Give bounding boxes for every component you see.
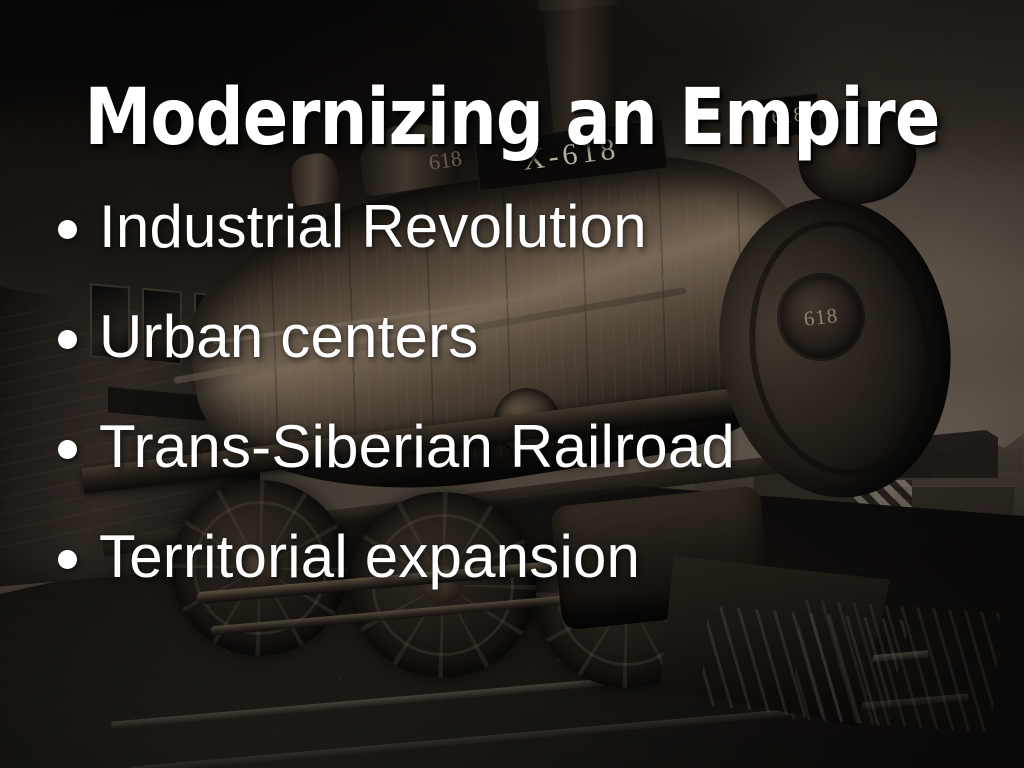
bullet-text: Trans-Siberian Railroad [99,415,735,479]
bullet-dot-icon [58,440,77,459]
bullet-item: Urban centers [58,282,988,392]
bullet-dot-icon [58,220,77,239]
bullet-list: Industrial Revolution Urban centers Tran… [58,172,988,612]
slide-title: Modernizing an Empire [72,74,953,162]
bullet-dot-icon [58,330,77,349]
bullet-item: Trans-Siberian Railroad [58,392,988,502]
bullet-text: Urban centers [99,305,478,369]
bullet-item: Territorial expansion [58,502,988,612]
bullet-text: Industrial Revolution [99,195,647,259]
bullet-dot-icon [58,550,77,569]
presentation-slide: 618 618 X-618 618 Modernizing an Empire [0,0,1024,768]
bullet-text: Territorial expansion [99,525,640,589]
slide-content: Modernizing an Empire Industrial Revolut… [0,0,1024,768]
bullet-item: Industrial Revolution [58,172,988,282]
